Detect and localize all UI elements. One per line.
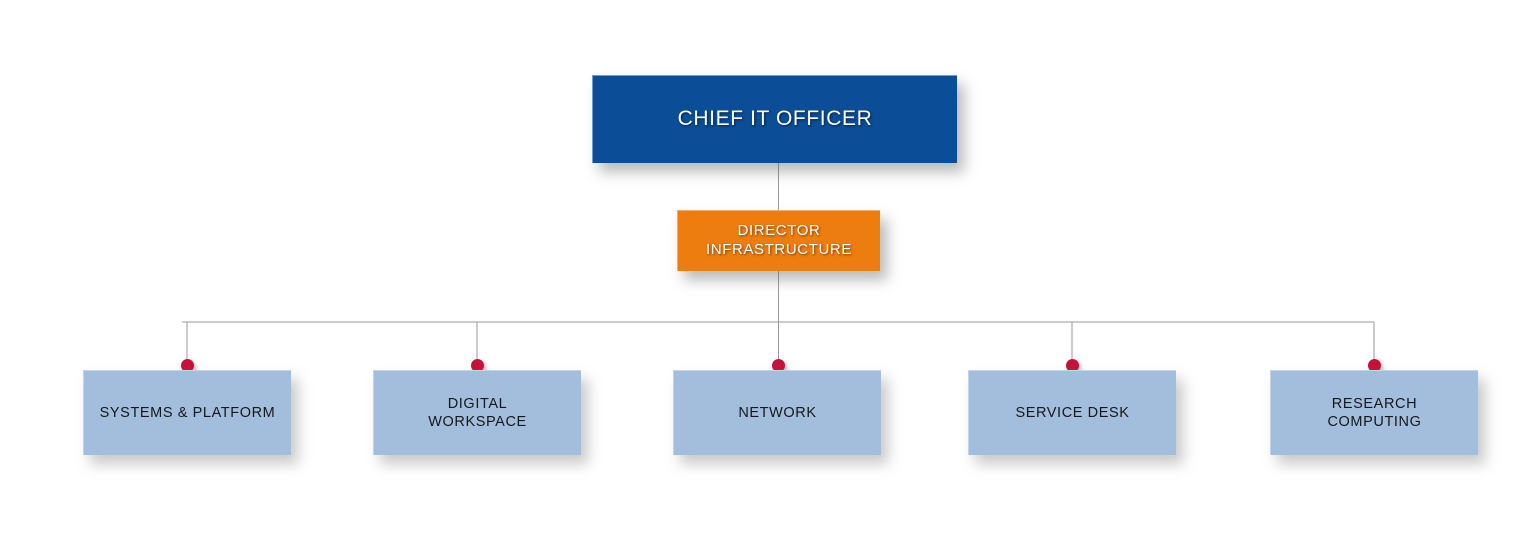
node-service-desk[interactable]: SERVICE DESK — [968, 370, 1176, 455]
org-chart-canvas: CHIEF IT OFFICER DIRECTOR INFRASTRUCTURE… — [0, 0, 1536, 560]
node-digital-workspace[interactable]: DIGITAL WORKSPACE — [373, 370, 581, 455]
node-network[interactable]: NETWORK — [673, 370, 881, 455]
node-chief-it-officer[interactable]: CHIEF IT OFFICER — [592, 75, 957, 163]
node-director-infrastructure[interactable]: DIRECTOR INFRASTRUCTURE — [677, 210, 880, 271]
node-research-computing[interactable]: RESEARCH COMPUTING — [1270, 370, 1478, 455]
node-systems-platform[interactable]: SYSTEMS & PLATFORM — [83, 370, 291, 455]
